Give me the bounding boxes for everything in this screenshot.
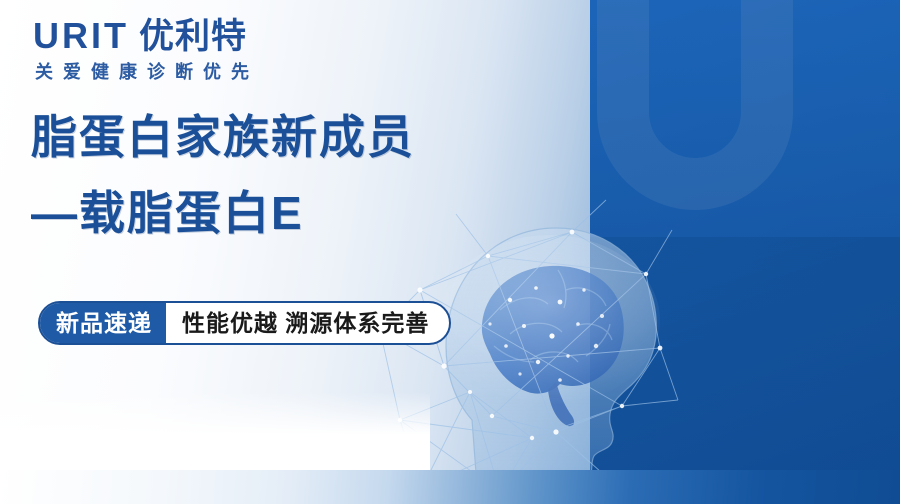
new-product-badge: 新品速递 性能优越 溯源体系完善 [38, 301, 451, 345]
headline-line-1: 脂蛋白家族新成员 [31, 114, 415, 160]
headline-line-2: —载脂蛋白E [31, 190, 415, 236]
headline: 脂蛋白家族新成员 —载脂蛋白E [31, 114, 415, 236]
brand-logo: URIT 优利特 关 爱 健 康 诊 断 优 先 [33, 18, 252, 81]
bottom-gradient-strip [0, 470, 900, 504]
promo-banner: URIT 优利特 关 爱 健 康 诊 断 优 先 脂蛋白家族新成员 —载脂蛋白E… [0, 0, 900, 504]
logo-tagline: 关 爱 健 康 诊 断 优 先 [35, 63, 252, 81]
logo-cjk-text: 优利特 [139, 19, 247, 54]
logo-latin-text: URIT [33, 18, 129, 54]
logo-wordmark: URIT 优利特 [33, 18, 252, 54]
badge-feature-text: 性能优越 溯源体系完善 [166, 303, 449, 343]
badge-tag-label: 新品速递 [40, 303, 166, 343]
